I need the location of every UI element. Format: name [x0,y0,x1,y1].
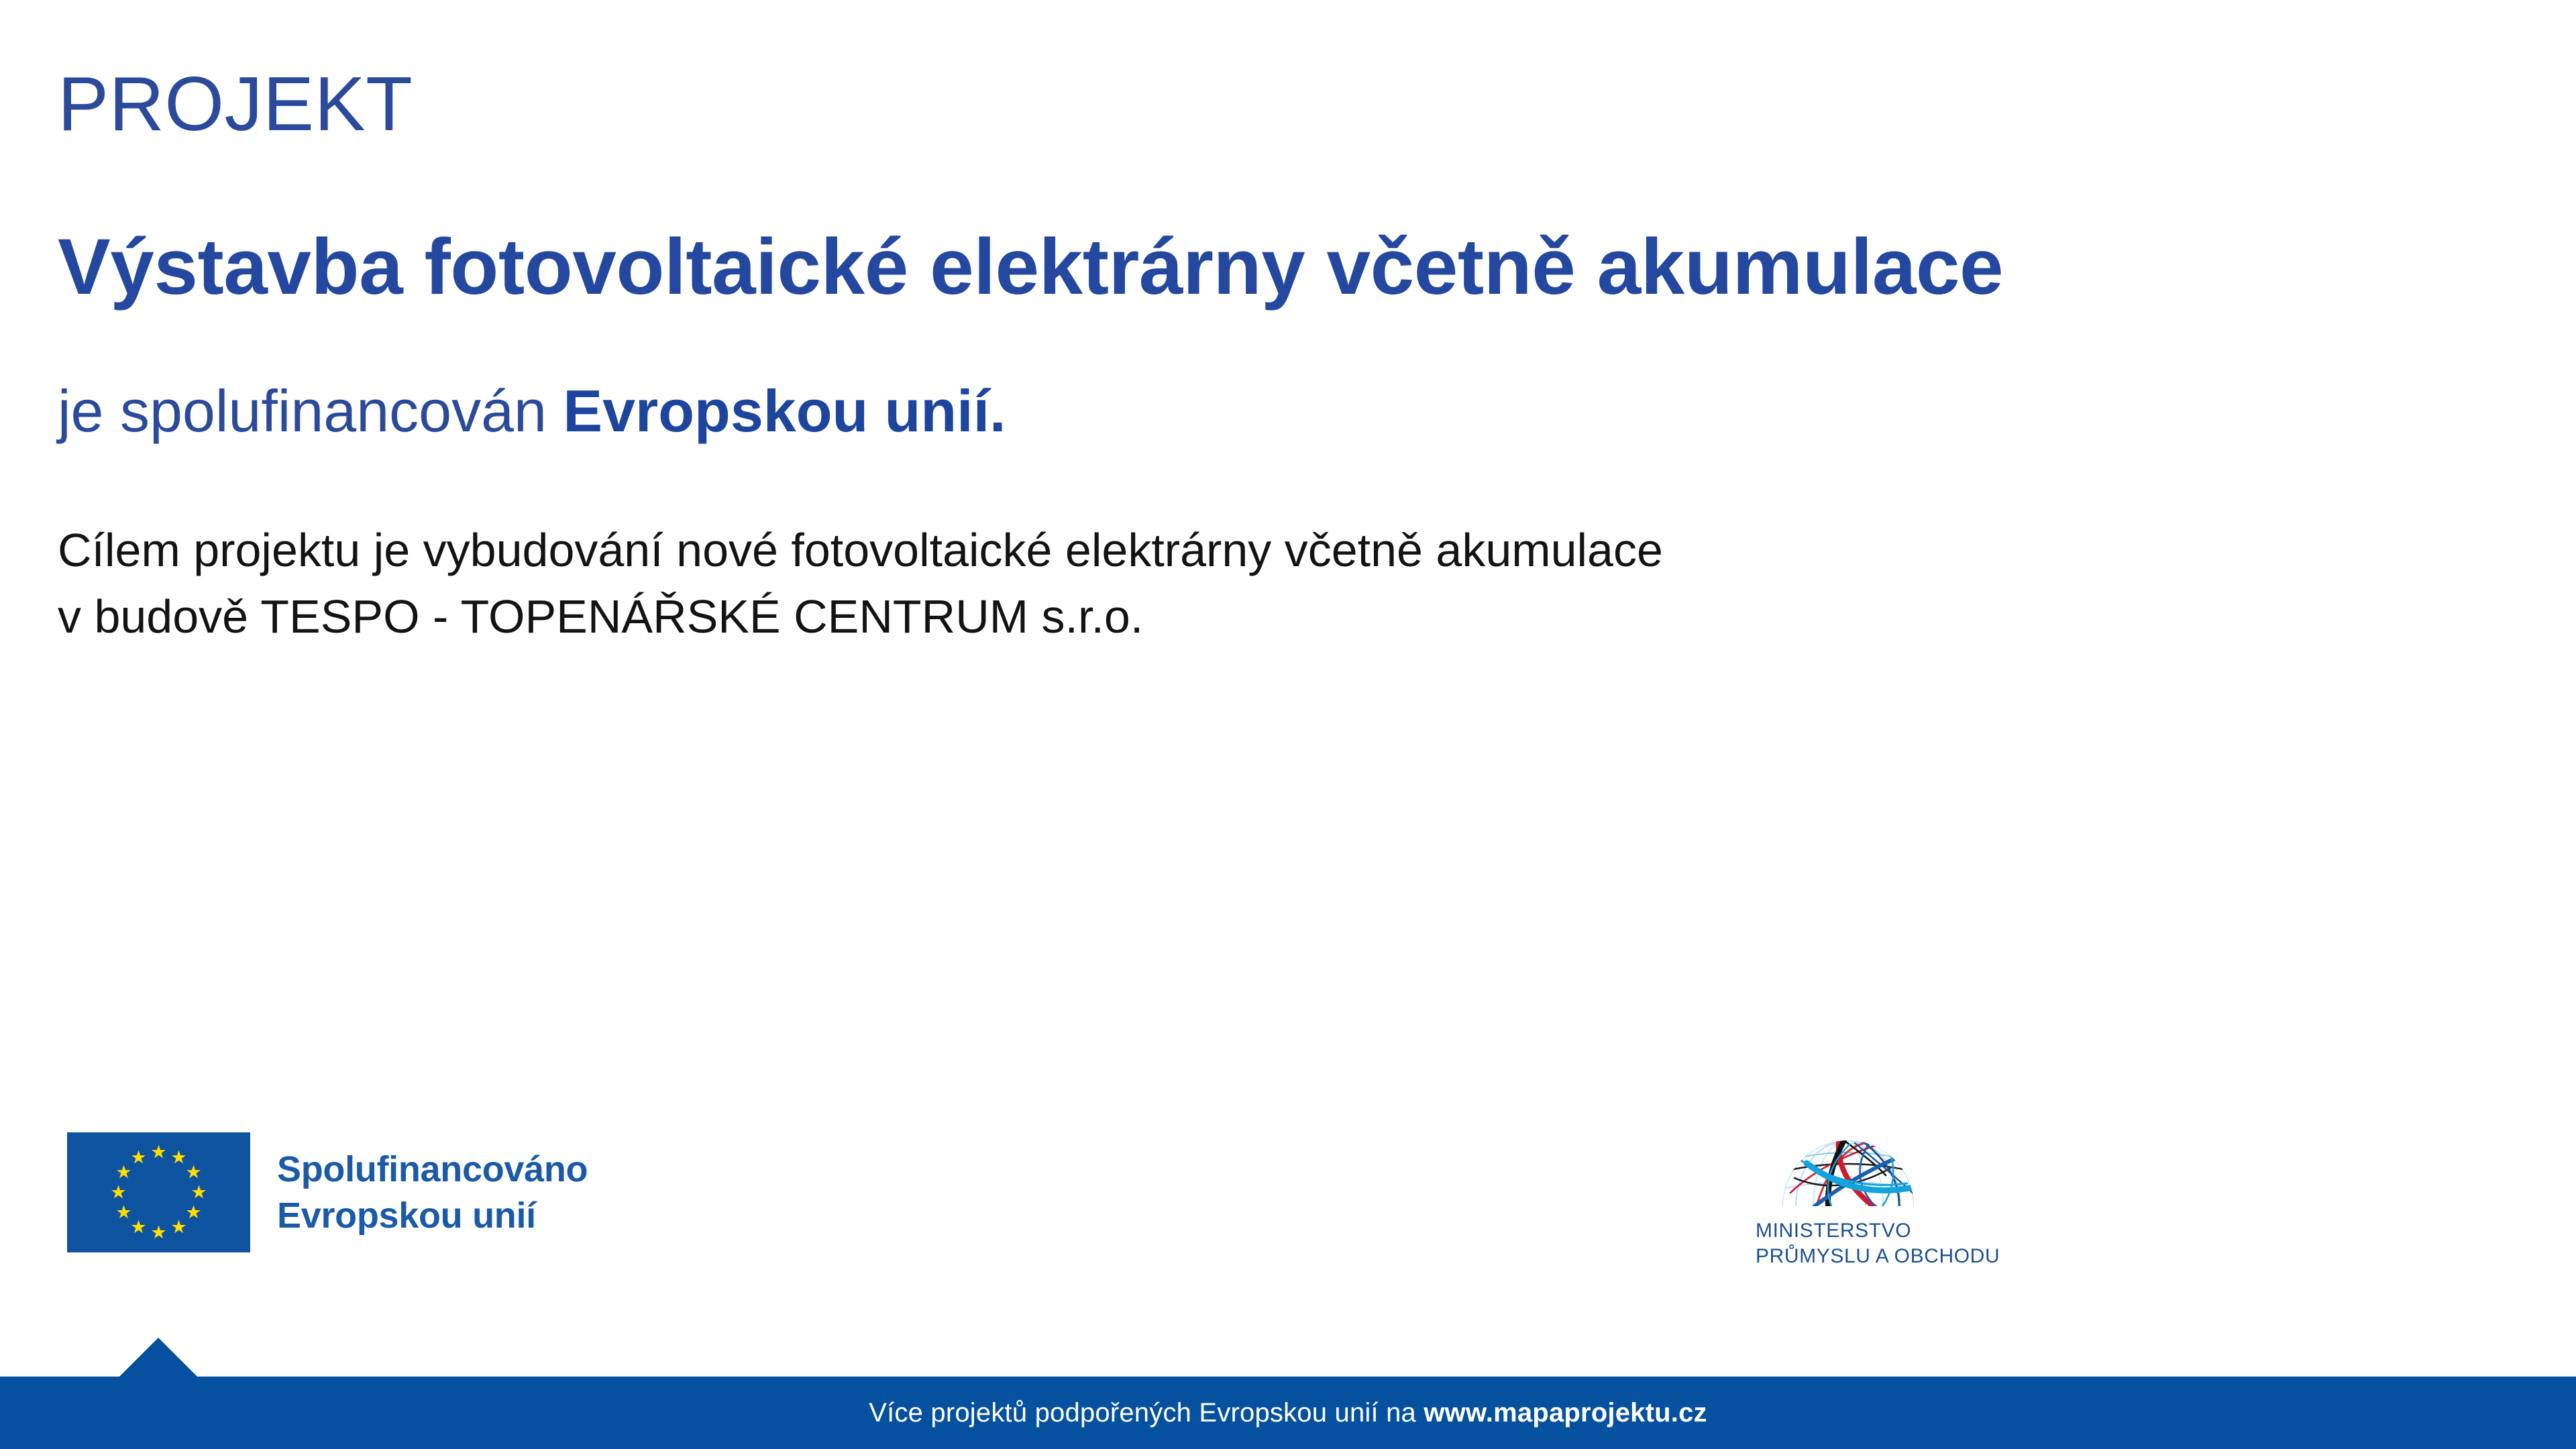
funding-subtitle-prefix: je spolufinancován [58,378,563,444]
page-title: Výstavba fotovoltaické elektrárny včetně… [58,223,2446,311]
eu-wordmark-line-2: Evropskou unií [277,1193,588,1238]
mpo-globe-icon [1774,1114,1922,1214]
poster-root: PROJEKT Výstavba fotovoltaické elektrárn… [0,0,2576,1449]
footer-notch-triangle [119,1338,197,1377]
ministry-logo: MINISTERSTVO PRŮMYSLU A OBCHODU [1756,1114,2044,1270]
project-description-line-1: Cílem projektu je vybudování nové fotovo… [58,517,2446,584]
page-kicker: PROJEKT [58,64,2446,145]
content-block: PROJEKT Výstavba fotovoltaické elektrárn… [58,64,2446,651]
funding-subtitle: je spolufinancován Evropskou unií. [58,377,2446,445]
footer-text-prefix: Více projektů podpořených Evropskou unií… [869,1398,1424,1428]
eu-wordmark: Spolufinancováno Evropskou unií [277,1146,588,1238]
project-description: Cílem projektu je vybudování nové fotovo… [58,517,2446,651]
eu-cofunding-logo: Spolufinancováno Evropskou unií [67,1132,588,1252]
footer-bar: Více projektů podpořených Evropskou unií… [0,1377,2576,1449]
ministry-wordmark-line-2: PRŮMYSLU A OBCHODU [1756,1244,2044,1269]
ministry-wordmark-line-1: MINISTERSTVO [1756,1218,2044,1244]
footer-text: Více projektů podpořených Evropskou unií… [869,1399,1707,1426]
eu-flag-icon [67,1132,250,1252]
footer-url-link[interactable]: www.mapaprojektu.cz [1424,1398,1707,1428]
eu-wordmark-line-1: Spolufinancováno [277,1146,588,1192]
ministry-wordmark: MINISTERSTVO PRŮMYSLU A OBCHODU [1756,1218,2044,1270]
project-description-line-2: v budově TESPO - TOPENÁŘSKÉ CENTRUM s.r.… [58,584,2446,650]
funding-subtitle-emphasis: Evropskou unií. [563,378,1006,444]
